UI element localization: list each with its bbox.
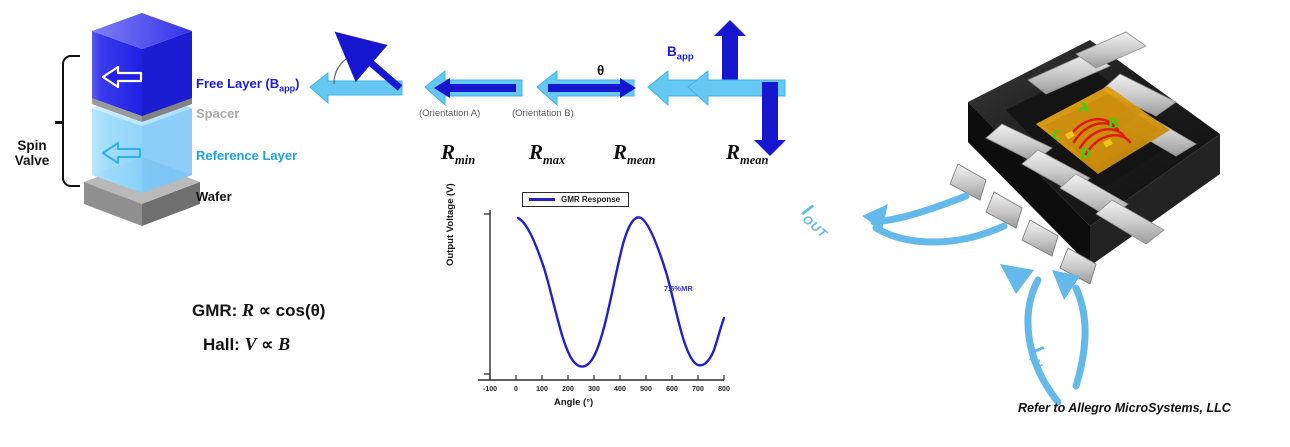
rmean2-sub: mean (740, 153, 768, 167)
hall-expression: B (278, 334, 290, 354)
rmin-base: R (441, 140, 455, 164)
vector-state-theta (310, 38, 402, 103)
rmax-base: R (529, 140, 543, 164)
iout-path-1 (874, 196, 966, 222)
attribution-credit: Refer to Allegro MicroSystems, LLC (1018, 401, 1231, 415)
resistance-label-rmean-1: Rmean (613, 140, 656, 168)
spin-valve-illustration (0, 0, 330, 260)
chart-plot-area: -1000 100200 300400 500600 700800 (448, 192, 738, 422)
free-layer-label: Free Layer (Bapp) (196, 76, 299, 94)
wafer-layer-label: Wafer (196, 189, 232, 204)
free-layer (92, 13, 192, 116)
ic-package-illustration (790, 14, 1290, 442)
rmean2-base: R (726, 140, 740, 164)
svg-text:400: 400 (614, 386, 626, 393)
orientation-a-caption: (Orientation A) (419, 108, 480, 119)
svg-text:800: 800 (718, 386, 730, 393)
free-layer-label-text: Free Layer (B (196, 76, 279, 91)
gmr-relation: ∝ (254, 301, 276, 320)
vector-state-orientation-b (537, 71, 636, 105)
hall-relation: ∝ (257, 335, 279, 354)
svg-text:600: 600 (666, 386, 678, 393)
rmean1-base: R (613, 140, 627, 164)
bridge-element-label-c: C (1052, 128, 1063, 145)
gmr-response-curve (518, 217, 724, 366)
rmin-sub: min (455, 153, 475, 167)
svg-text:100: 100 (536, 386, 548, 393)
svg-text:0: 0 (514, 386, 518, 393)
vector-state-orientation-a (425, 71, 522, 105)
equation-gmr: GMR: R ∝ cos(θ) (192, 300, 325, 321)
chart-y-axis-label: Output Voltage (V) (445, 183, 456, 266)
legend-label-gmr-response: GMR Response (561, 195, 620, 204)
rmean1-sub: mean (627, 153, 655, 167)
spacer-layer-label: Spacer (196, 106, 239, 121)
gmr-expression: cos(θ) (276, 301, 326, 320)
spin-valve-bracket-label: Spin Valve (4, 138, 60, 168)
gmr-variable: R (242, 300, 254, 320)
resistance-label-rmax: Rmax (529, 140, 565, 168)
x-axis-ticks (490, 375, 724, 380)
bridge-element-label-d: D (1080, 146, 1091, 163)
svg-text:500: 500 (640, 386, 652, 393)
bridge-element-label-b: B (1108, 116, 1118, 133)
equation-hall: Hall: V ∝ B (203, 334, 290, 355)
resistance-label-rmin: Rmin (441, 140, 475, 168)
spin-valve-label-line1: Spin (17, 138, 46, 153)
reference-layer-label: Reference Layer (196, 148, 297, 163)
svg-text:200: 200 (562, 386, 574, 393)
ic-package-panel: A B C D IOUT IIN Refer to Allegro MicroS… (790, 14, 1290, 442)
gmr-response-chart: GMR Response -1000 100200 300400 500600 (448, 192, 738, 422)
iin-path-2 (1076, 288, 1085, 386)
chart-x-axis-label: Angle (°) (554, 397, 593, 408)
spin-valve-stack-panel: Spin Valve Free Layer (Bapp) Spacer Refe… (0, 0, 330, 260)
hall-prefix: Hall: (203, 335, 245, 354)
orientation-b-caption: (Orientation B) (512, 108, 574, 119)
iout-path-2 (876, 226, 1004, 242)
hall-variable: V (245, 334, 257, 354)
svg-text:-100: -100 (483, 386, 497, 393)
chart-mr-annotation: 7.5%MR (664, 284, 693, 293)
bridge-element-label-a: A (1078, 100, 1089, 117)
resistance-label-rmean-2: Rmean (726, 140, 769, 168)
spin-valve-brace (62, 55, 80, 187)
gmr-prefix: GMR: (192, 301, 242, 320)
spin-valve-label-line2: Valve (15, 153, 50, 168)
legend-swatch-gmr-response (529, 198, 555, 201)
theta-angle-label: θ (597, 63, 604, 78)
rmax-sub: max (543, 153, 565, 167)
svg-text:300: 300 (588, 386, 600, 393)
chart-legend: GMR Response (522, 192, 629, 207)
x-tick-labels: -1000 100200 300400 500600 700800 (483, 386, 730, 393)
bapp-label-text: B (667, 44, 677, 59)
iin-path-1 (1028, 280, 1058, 402)
svg-text:700: 700 (692, 386, 704, 393)
